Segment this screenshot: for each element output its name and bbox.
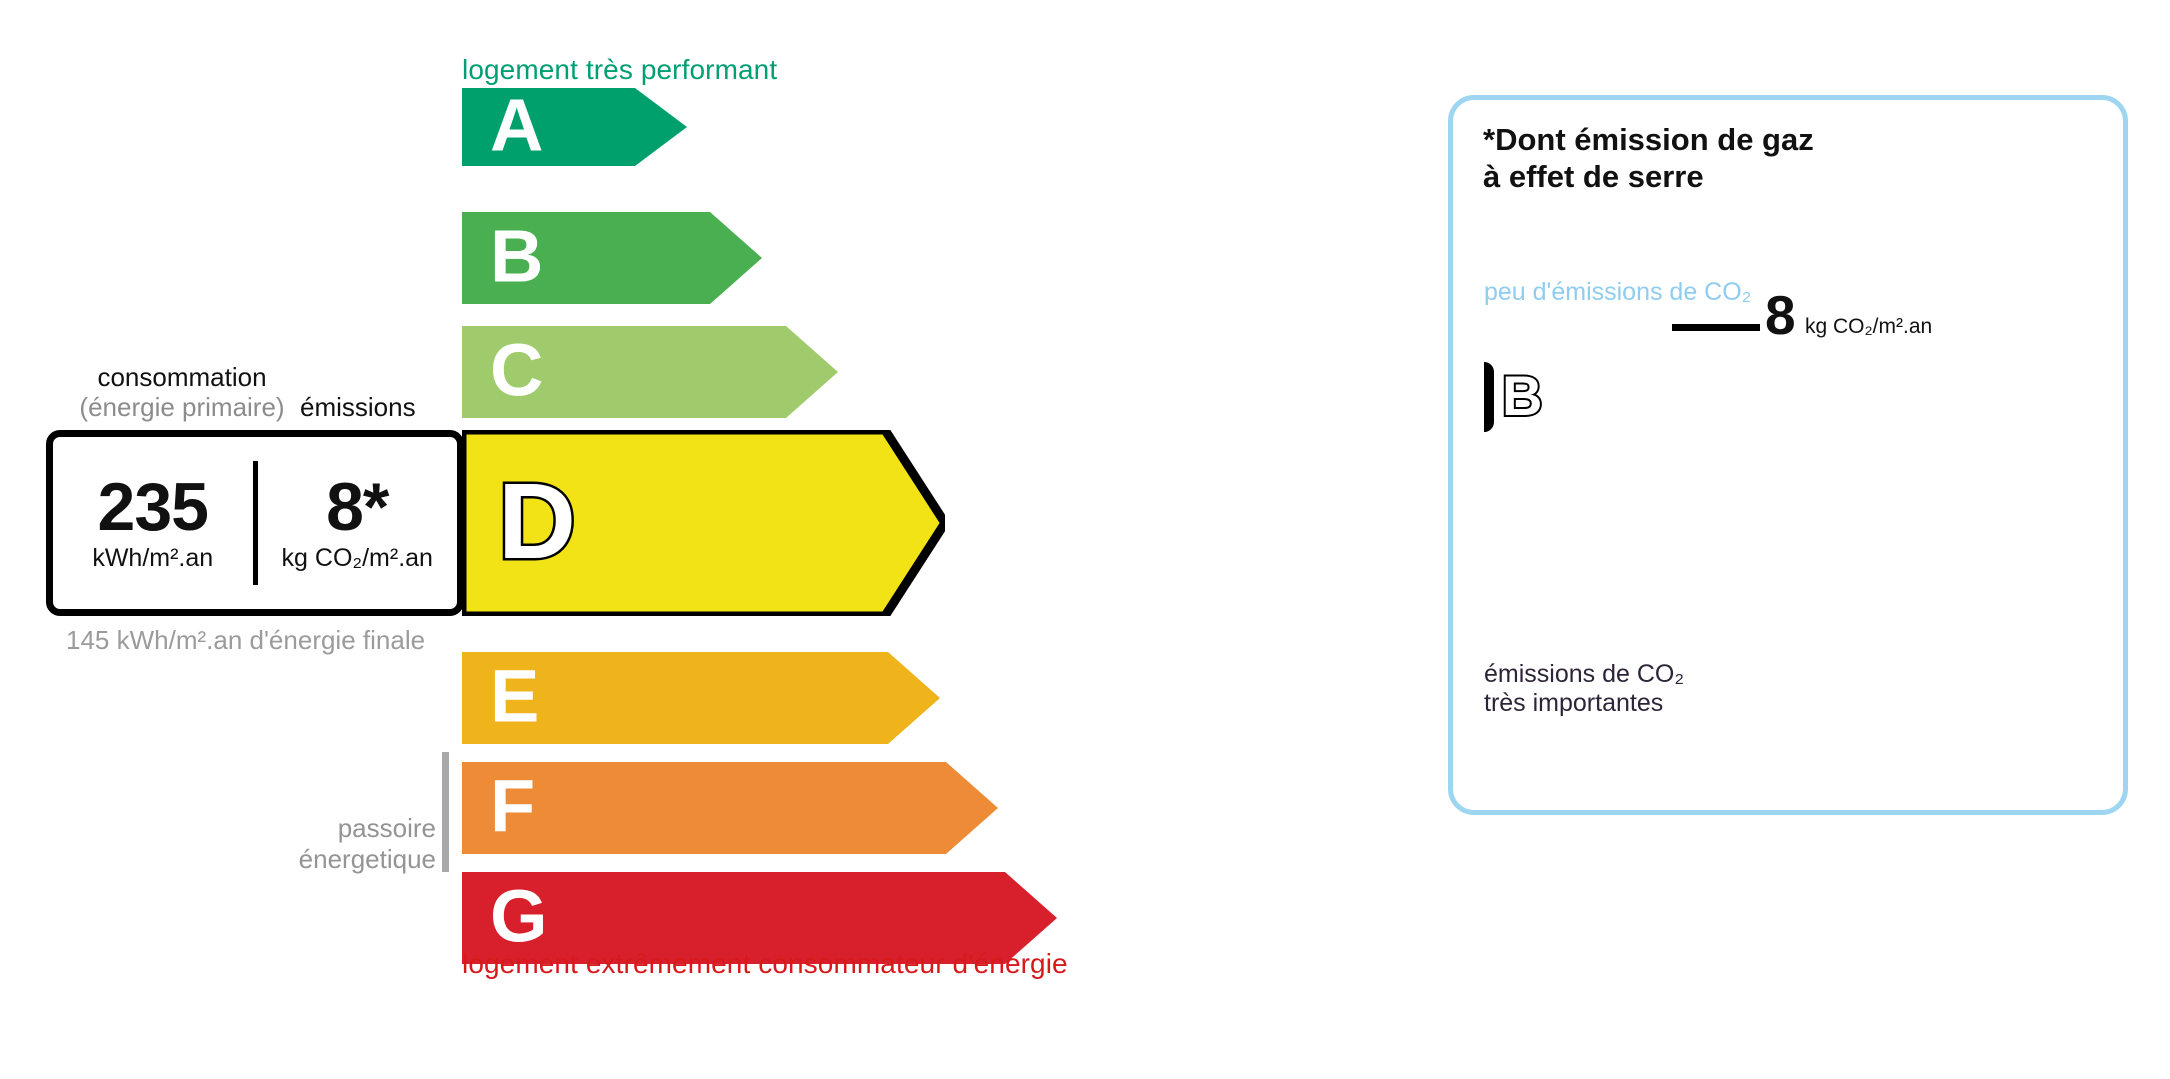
co2-bar-letter-d: D — [1497, 495, 1524, 533]
energy-bar-letter-b: B — [490, 220, 543, 294]
final-energy-note: 145 kWh/m².an d'énergie finale — [66, 625, 425, 656]
energy-bar-letter-g: G — [490, 880, 548, 954]
consumption-unit: kWh/m².an — [53, 544, 253, 573]
co2-bar-a: A — [1484, 314, 1589, 352]
co2-value-unit: kg CO₂/m².an — [1805, 315, 1932, 339]
energy-bar-letter-e: E — [490, 660, 539, 734]
energy-bar-letter-c: C — [490, 334, 543, 408]
energy-arrow-shape-f — [462, 762, 998, 854]
consumption-cell: 235 kWh/m².an — [53, 473, 253, 573]
consumption-value: 235 — [53, 473, 253, 542]
consumption-label-group: consommation (énergie primaire) — [62, 363, 302, 422]
co2-bar-letter-a: A — [1497, 313, 1524, 351]
energy-scale-top-caption: logement très performant — [462, 54, 777, 86]
co2-panel-title: *Dont émission de gaz à effet de serre — [1483, 122, 1814, 195]
co2-bar-d: D — [1484, 495, 1694, 535]
energy-scale-bottom-caption: logement extrêmement consommateur d'éner… — [462, 948, 1068, 980]
co2-bar-c: C — [1484, 445, 1659, 485]
co2-bar-f: F — [1484, 594, 1764, 634]
co2-emissions-panel: *Dont émission de gaz à effet de serre p… — [1448, 95, 2128, 815]
energy-performance-scale: logement très performant A B C D E F G l… — [0, 0, 1400, 1079]
energy-bar-c: C — [462, 326, 838, 418]
energy-bar-d: D — [462, 430, 945, 616]
emissions-unit: kg CO₂/m².an — [258, 544, 458, 573]
value-box: 235 kWh/m².an 8* kg CO₂/m².an — [46, 430, 464, 616]
energy-bar-b: B — [462, 212, 762, 304]
co2-bar-e: E — [1484, 545, 1729, 585]
co2-top-caption: peu d'émissions de CO₂ — [1484, 278, 1751, 307]
energy-bar-letter-f: F — [490, 770, 535, 844]
energy-bar-letter-d: D — [498, 467, 576, 575]
energy-bar-e: E — [462, 652, 940, 744]
co2-bar-b: B — [1484, 362, 1624, 432]
emissions-cell: 8* kg CO₂/m².an — [258, 473, 458, 573]
co2-bar-letter-b: B — [1502, 368, 1542, 424]
emissions-label: émissions — [300, 392, 416, 423]
co2-bar-letter-c: C — [1497, 445, 1524, 483]
passoire-energetique-label: passoire énergetique — [276, 813, 436, 874]
emissions-value: 8* — [258, 473, 458, 542]
energy-bar-f: F — [462, 762, 998, 854]
energy-bar-a: A — [462, 88, 687, 166]
co2-bar-letter-f: F — [1497, 594, 1520, 632]
co2-bar-letter-e: E — [1497, 545, 1522, 583]
co2-leader-line — [1672, 324, 1760, 331]
passoire-bracket-line — [442, 752, 449, 872]
energy-bar-letter-a: A — [490, 89, 543, 163]
co2-bar-shape-b — [1484, 362, 1494, 432]
co2-bottom-caption: émissions de CO₂ très importantes — [1484, 660, 1684, 718]
co2-value: 8 — [1765, 288, 1796, 343]
consumption-sublabel: (énergie primaire) — [79, 392, 284, 422]
consumption-label: consommation — [97, 362, 266, 392]
